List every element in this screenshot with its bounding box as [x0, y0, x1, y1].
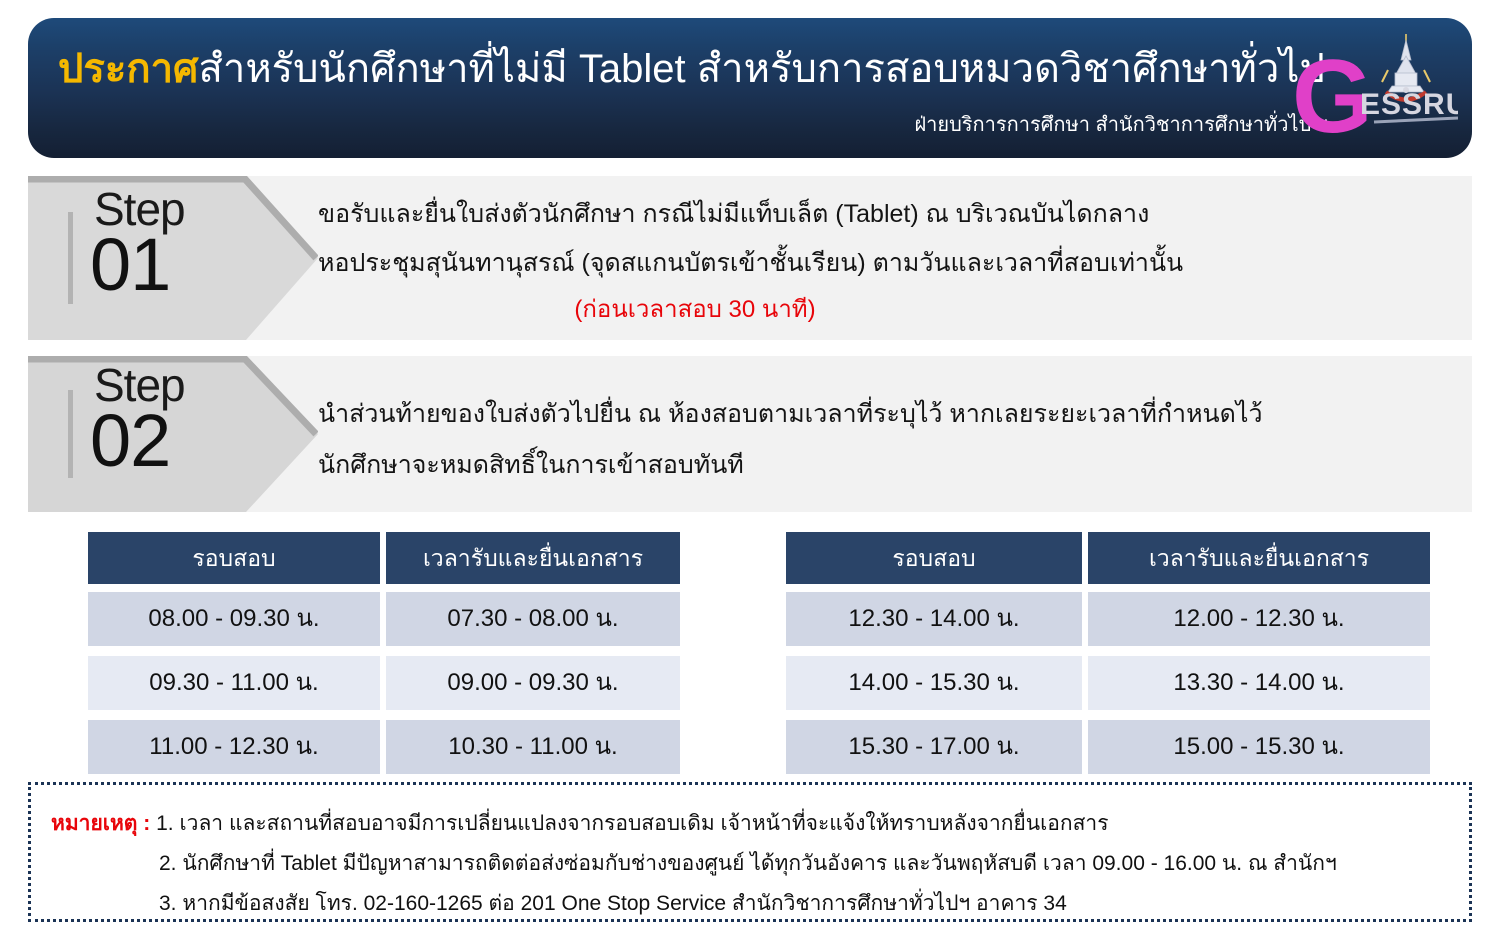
title-rest: สำหรับนักศึกษาที่ไม่มี Tablet สำหรับการส…	[198, 47, 1324, 91]
cell-document-time: 07.30 - 08.00 น.	[386, 592, 680, 646]
cell-exam-round: 08.00 - 09.30 น.	[88, 592, 380, 646]
table-row: 09.30 - 11.00 น. 09.00 - 09.30 น.	[88, 656, 680, 710]
logo-wordmark: ESSRU	[1360, 88, 1458, 121]
table-row: 14.00 - 15.30 น. 13.30 - 14.00 น.	[786, 656, 1430, 710]
step-text-line: ขอรับและยื่นใบส่งตัวนักศึกษา กรณีไม่มีแท…	[318, 202, 1412, 227]
step-emphasis-note: (ก่อนเวลาสอบ 30 นาที)	[318, 298, 1412, 322]
table-row: 08.00 - 09.30 น. 07.30 - 08.00 น.	[88, 592, 680, 646]
note-line-1: หมายเหตุ : 1. เวลา และสถานที่สอบอาจมีการ…	[51, 813, 1109, 834]
cell-document-time: 09.00 - 09.30 น.	[386, 656, 680, 710]
table-row: 12.30 - 14.00 น. 12.00 - 12.30 น.	[786, 592, 1430, 646]
cell-exam-round: 12.30 - 14.00 น.	[786, 592, 1082, 646]
column-header-exam-round: รอบสอบ	[786, 532, 1082, 584]
step-divider-bar	[68, 390, 73, 477]
announcement-poster: ประกาศสำหรับนักศึกษาที่ไม่มี Tablet สำหร…	[0, 0, 1500, 938]
cell-document-time: 10.30 - 11.00 น.	[386, 720, 680, 774]
note-line-3: 3. หากมีข้อสงสัย โทร. 02-160-1265 ต่อ 20…	[159, 893, 1067, 914]
table-row: 15.30 - 17.00 น. 15.00 - 15.30 น.	[786, 720, 1430, 774]
table-row: 11.00 - 12.30 น. 10.30 - 11.00 น.	[88, 720, 680, 774]
column-header-document-time: เวลารับและยื่นเอกสาร	[386, 532, 680, 584]
step-body-02: นำส่วนท้ายของใบส่งตัวไปยื่น ณ ห้องสอบตาม…	[318, 356, 1412, 512]
step-text-line: หอประชุมสุนันทานุสรณ์ (จุดสแกนบัตรเข้าชั…	[318, 251, 1412, 276]
notes-box: หมายเหตุ : 1. เวลา และสถานที่สอบอาจมีการ…	[28, 782, 1472, 922]
table-header-row: รอบสอบ เวลารับและยื่นเอกสาร	[786, 532, 1430, 584]
cell-document-time: 15.00 - 15.30 น.	[1088, 720, 1430, 774]
page-subtitle: ฝ่ายบริการการศึกษา สำนักวิชาการศึกษาทั่ว…	[28, 108, 1328, 140]
table-header-row: รอบสอบ เวลารับและยื่นเอกสาร	[88, 532, 680, 584]
step-badge-01: Step 01	[28, 176, 318, 340]
cell-exam-round: 14.00 - 15.30 น.	[786, 656, 1082, 710]
column-header-document-time: เวลารับและยื่นเอกสาร	[1088, 532, 1430, 584]
cell-document-time: 13.30 - 14.00 น.	[1088, 656, 1430, 710]
schedule-table-morning: รอบสอบ เวลารับและยื่นเอกสาร 08.00 - 09.3…	[88, 532, 680, 784]
cell-document-time: 12.00 - 12.30 น.	[1088, 592, 1430, 646]
note-line-2: 2. นักศึกษาที่ Tablet มีปัญหาสามารถติดต่…	[159, 853, 1337, 874]
step-number: 01	[90, 228, 170, 302]
note-text: 1. เวลา และสถานที่สอบอาจมีการเปลี่ยนแปลง…	[156, 812, 1108, 835]
column-header-exam-round: รอบสอบ	[88, 532, 380, 584]
cell-exam-round: 15.30 - 17.00 น.	[786, 720, 1082, 774]
step-text-line: นักศึกษาจะหมดสิทธิ์ในการเข้าสอบทันที	[318, 453, 1412, 478]
cell-exam-round: 11.00 - 12.30 น.	[88, 720, 380, 774]
step-band-01: Step 01 ขอรับและยื่นใบส่งตัวนักศึกษา กรณ…	[28, 176, 1472, 340]
schedule-table-afternoon: รอบสอบ เวลารับและยื่นเอกสาร 12.30 - 14.0…	[786, 532, 1430, 784]
step-body-01: ขอรับและยื่นใบส่งตัวนักศึกษา กรณีไม่มีแท…	[318, 176, 1412, 340]
step-badge-02: Step 02	[28, 356, 318, 512]
title-highlight: ประกาศ	[58, 47, 198, 91]
header-bar: ประกาศสำหรับนักศึกษาที่ไม่มี Tablet สำหร…	[28, 18, 1472, 158]
notes-label: หมายเหตุ :	[51, 812, 150, 835]
cell-exam-round: 09.30 - 11.00 น.	[88, 656, 380, 710]
step-band-02: Step 02 นำส่วนท้ายของใบส่งตัวไปยื่น ณ ห้…	[28, 356, 1472, 512]
step-divider-bar	[68, 212, 73, 304]
step-number: 02	[90, 404, 170, 478]
essru-logo: G ESSRU	[1288, 30, 1458, 148]
page-title: ประกาศสำหรับนักศึกษาที่ไม่มี Tablet สำหร…	[58, 46, 1328, 92]
step-text-line: นำส่วนท้ายของใบส่งตัวไปยื่น ณ ห้องสอบตาม…	[318, 402, 1412, 427]
